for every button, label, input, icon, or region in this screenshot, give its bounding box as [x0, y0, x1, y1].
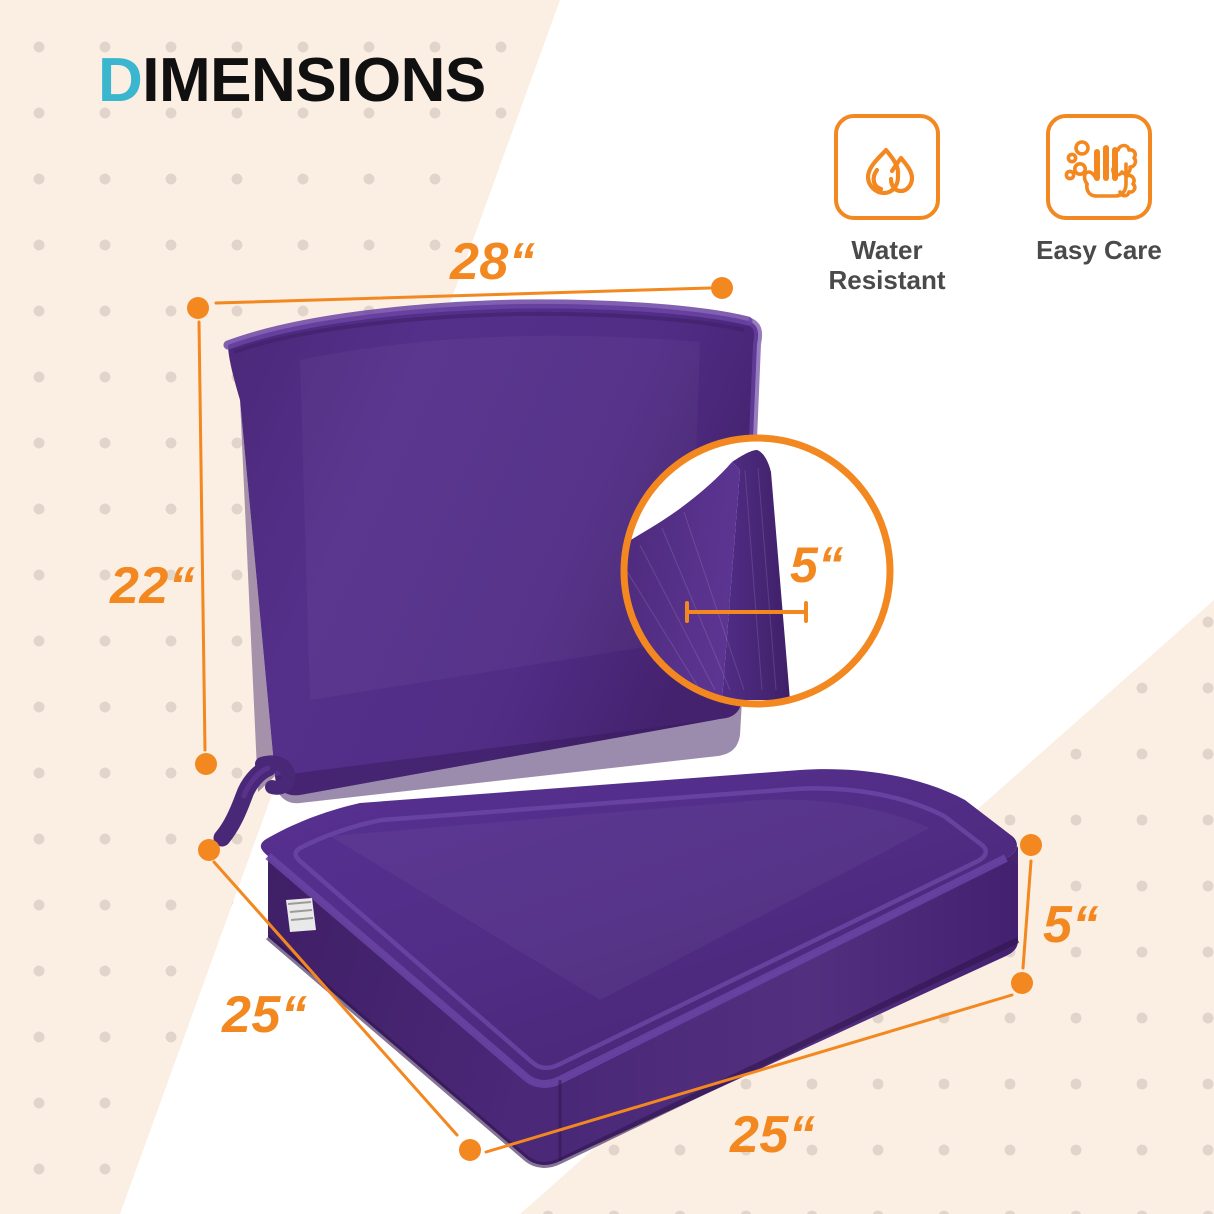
dimension-label-seat-thickness: 5“: [1043, 895, 1099, 955]
easy-care-label-line1: Easy Care: [1036, 235, 1162, 265]
infographic-canvas: DIMENSIONS Water Resistant: [0, 0, 1214, 1214]
easy-care-badge: [1046, 114, 1152, 220]
water-resistant-label: Water Resistant: [828, 235, 945, 295]
page-title: DIMENSIONS: [98, 50, 486, 112]
feature-badges: Water Resistant: [804, 114, 1182, 295]
easy-care-label: Easy Care: [1036, 235, 1162, 265]
dimension-label-seat-width: 25“: [730, 1105, 815, 1165]
dimension-label-seat-depth: 25“: [222, 985, 307, 1045]
feature-easy-care: Easy Care: [1016, 114, 1182, 295]
hand-wash-bubbles-icon: [1060, 128, 1138, 206]
dimension-label-back-thickness: 5“: [790, 536, 844, 594]
title-lead-letter: D: [98, 46, 142, 115]
water-resistant-label-line1: Water: [828, 235, 945, 265]
water-resistant-label-line2: Resistant: [828, 265, 945, 295]
dimension-label-back-height: 22“: [110, 556, 195, 616]
water-drops-icon: [848, 128, 926, 206]
feature-water-resistant: Water Resistant: [804, 114, 970, 295]
water-resistant-badge: [834, 114, 940, 220]
title-rest: IMENSIONS: [142, 46, 485, 115]
dimension-label-back-width: 28“: [450, 232, 535, 292]
